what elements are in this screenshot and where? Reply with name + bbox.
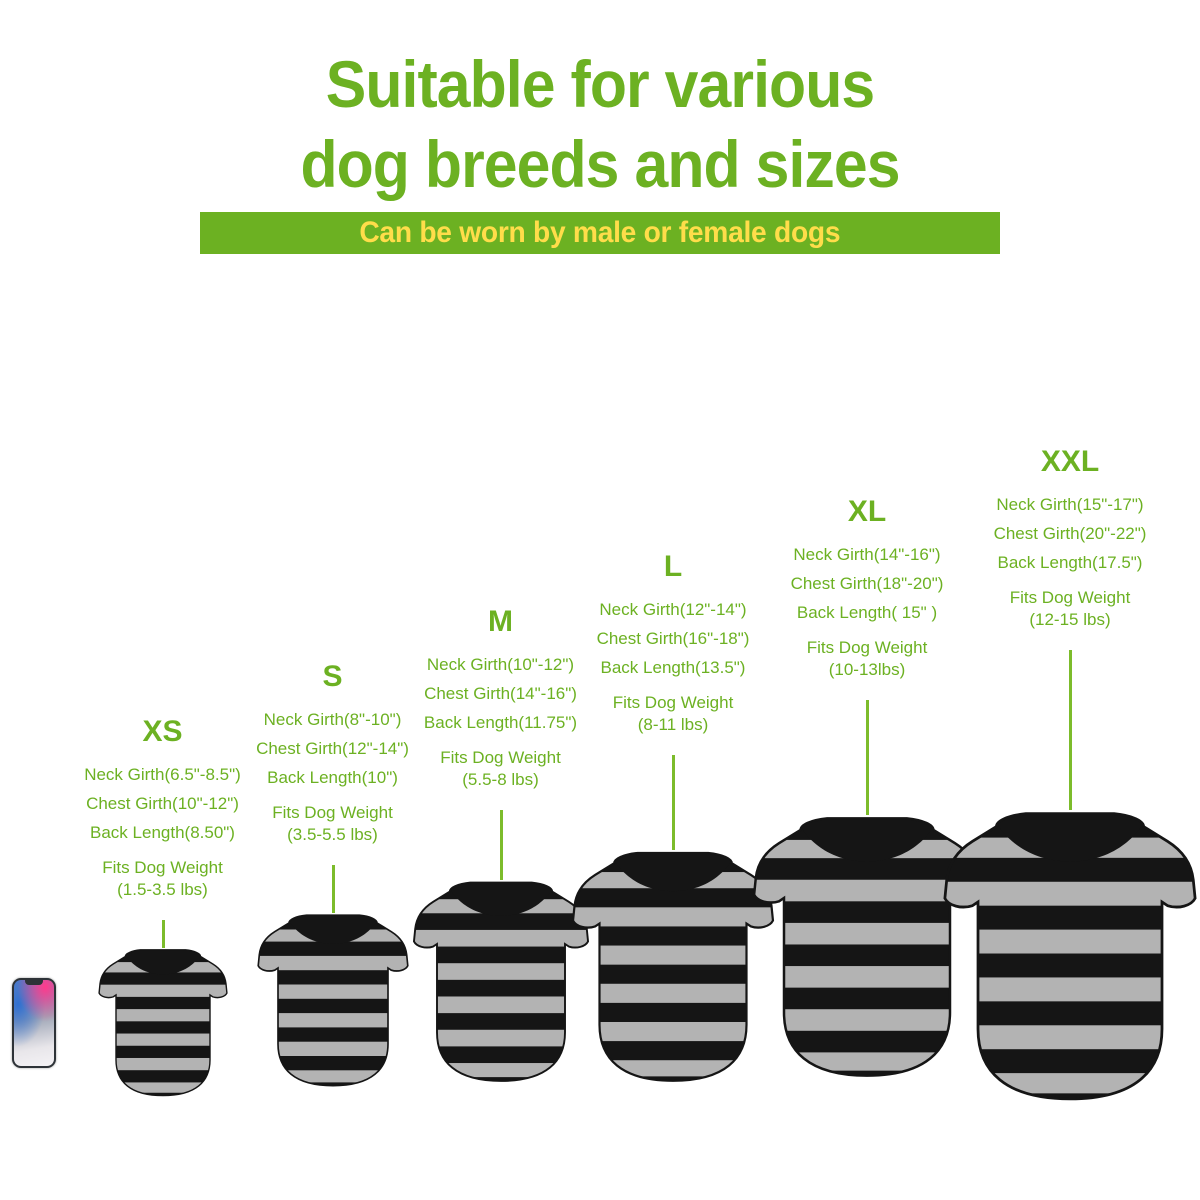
size-label-xxl: XXL <box>945 445 1195 479</box>
phone-icon <box>12 978 56 1068</box>
shirt-xxl <box>941 810 1199 1104</box>
spec-chest: Chest Girth(20"-22") <box>945 519 1195 548</box>
spec-neck: Neck Girth(15"-17") <box>945 490 1195 519</box>
size-group-xxl: XXL Neck Girth(15"-17") Chest Girth(20"-… <box>945 445 1195 1065</box>
shirt-graphic <box>941 810 1199 1104</box>
phone-notch <box>25 980 43 985</box>
leader-line-xl <box>866 700 869 815</box>
subtitle-text: Can be worn by male or female dogs <box>360 216 841 250</box>
headline-line-1: Suitable for various <box>48 44 1152 124</box>
subtitle-banner: Can be worn by male or female dogs <box>200 212 1000 254</box>
spec-back: Back Length(17.5") <box>945 548 1195 577</box>
spec-weight-value: (12-15 lbs) <box>945 609 1195 631</box>
leader-line-m <box>500 810 503 880</box>
size-specs-xxl: Neck Girth(15"-17") Chest Girth(20"-22")… <box>945 490 1195 631</box>
leader-line-xs <box>162 920 165 948</box>
headline-line-2: dog breeds and sizes <box>48 124 1152 204</box>
spec-weight-label: Fits Dog Weight <box>945 587 1195 609</box>
header: Suitable for various dog breeds and size… <box>0 44 1200 204</box>
leader-line-xxl <box>1069 650 1072 810</box>
leader-line-s <box>332 865 335 913</box>
phone-screen <box>14 980 54 1066</box>
leader-line-l <box>672 755 675 850</box>
